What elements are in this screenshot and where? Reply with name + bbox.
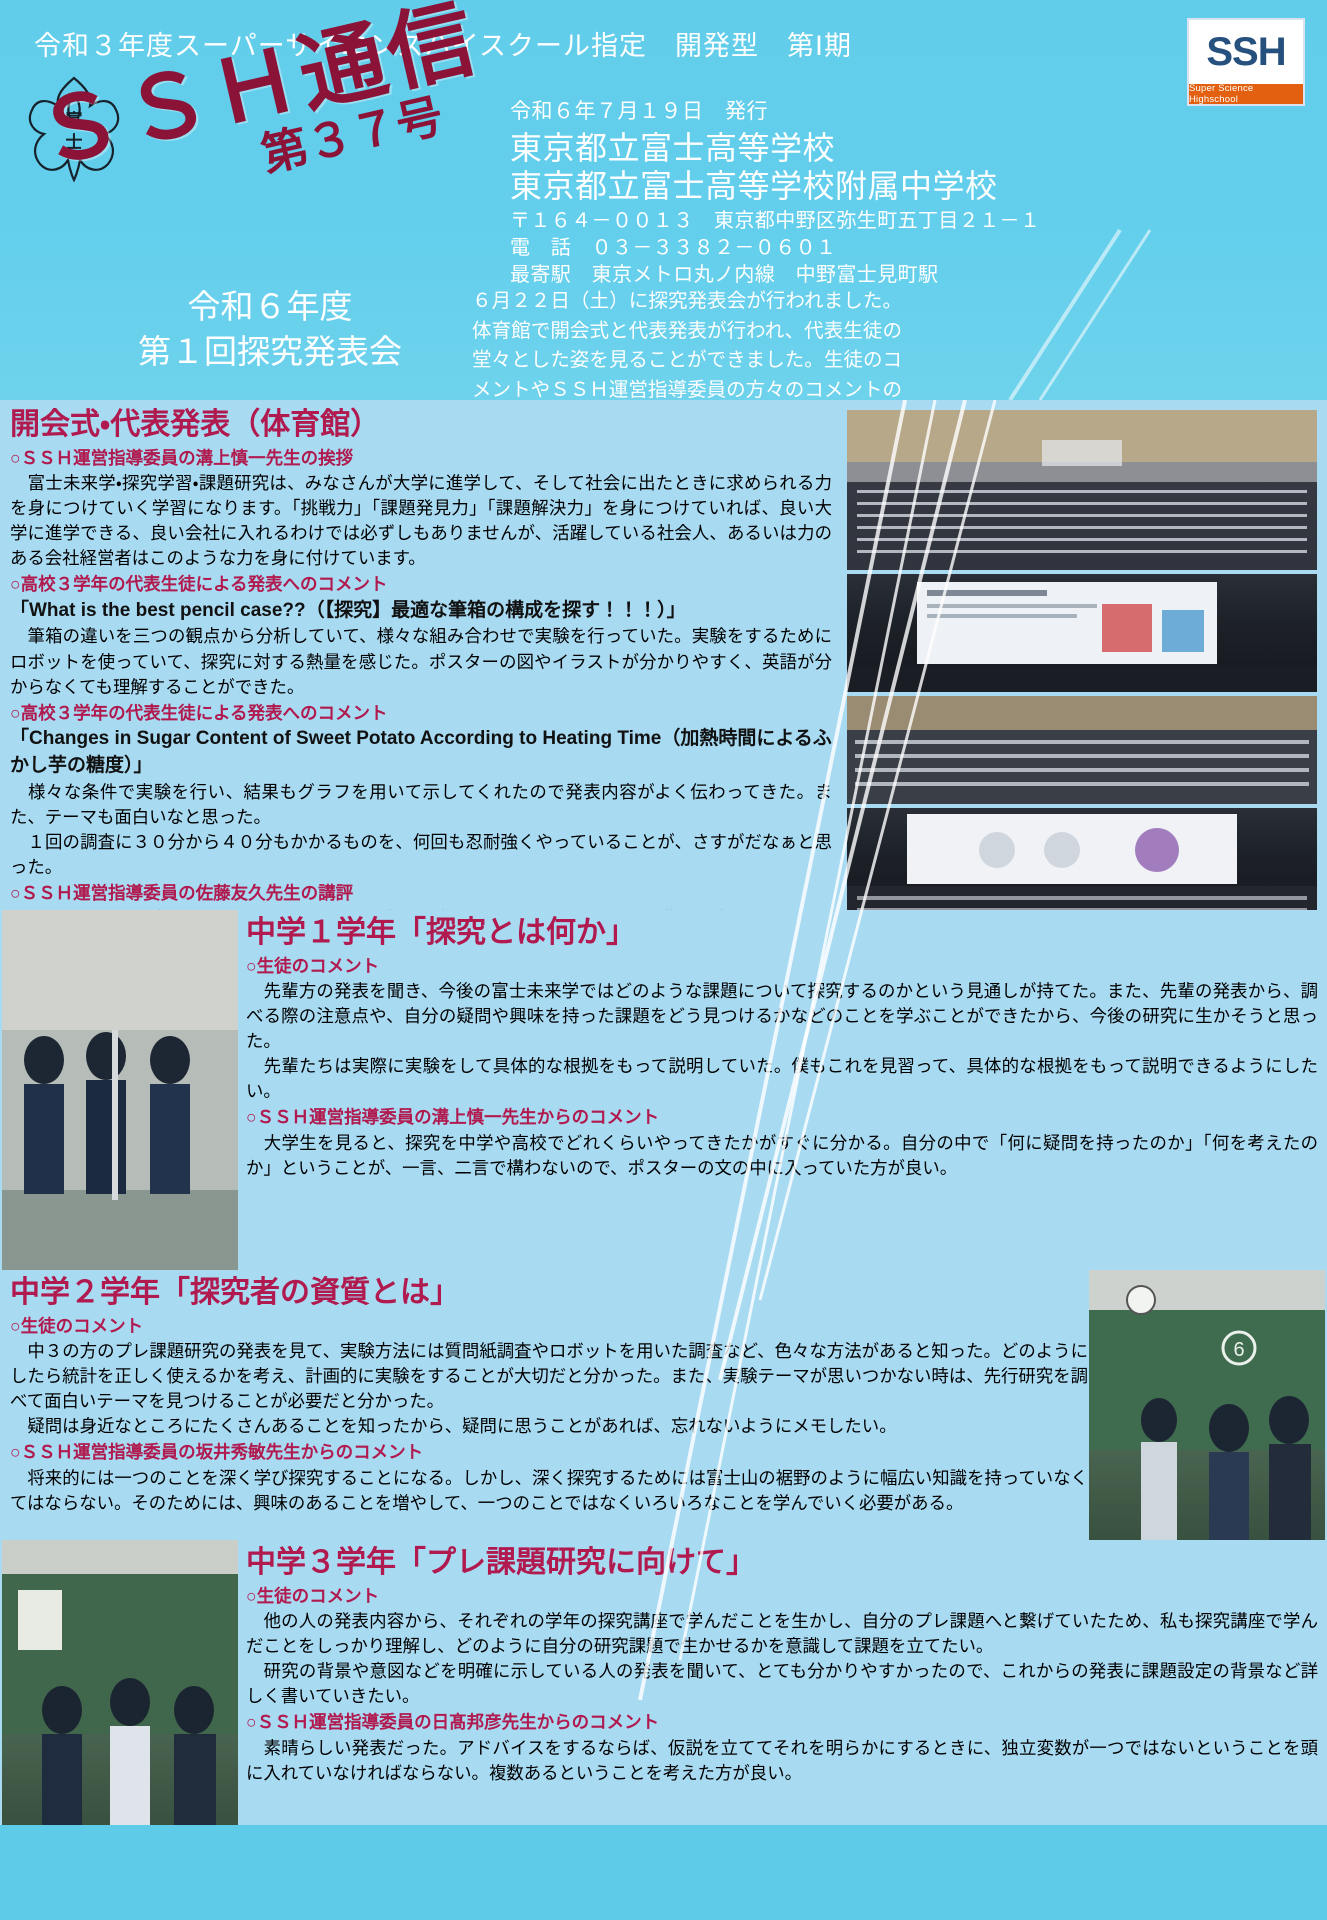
presentation-title: 「What is the best pencil case??（【探究】最適な筆… bbox=[10, 598, 832, 625]
section-3-text-column: 中学２学年「探究者の資質とは」 ○生徒のコメント 中３の方のプレ課題研究の発表を… bbox=[10, 1276, 1088, 1516]
ssh-logo-caption: Super Science Highschool bbox=[1189, 84, 1303, 104]
sub-heading: ○ＳＳＨ運営指導委員の溝上慎一先生の挨拶 bbox=[10, 446, 832, 471]
school-name-junior: 東京都立富士高等学校附属中学校 bbox=[510, 167, 1040, 205]
paragraph: １回の調査に３０分から４０分もかかるものを、何回も忍耐強くやっていることが、さす… bbox=[10, 830, 832, 880]
sub-heading: ○高校３学年の代表生徒による発表へのコメント bbox=[10, 572, 832, 597]
newsletter-header: 令和３年度スーパーサイエンスハイスクール指定 開発型 第Ⅰ期 SSH Super… bbox=[0, 0, 1327, 400]
paragraph: 富士未来学・探究学習・課題研究は、みなさんが大学に進学して、そして社会に出たとき… bbox=[10, 471, 832, 571]
paragraph: 先輩方の発表を聞き、今後の富士未来学ではどのような課題について探究するのかという… bbox=[246, 979, 1318, 1054]
nearest-station: 最寄駅 東京メトロ丸ノ内線 中野富士見町駅 bbox=[510, 262, 1040, 289]
sub-heading: ○ＳＳＨ運営指導委員の日髙邦彦先生からのコメント bbox=[246, 1710, 1318, 1735]
section-4-title: 中学３学年「プレ課題研究に向けて」 bbox=[246, 1546, 1318, 1583]
stage-screen-photo bbox=[847, 808, 1317, 920]
school-address: 〒１６４－００１３ 東京都中野区弥生町五丁目２１－１ bbox=[510, 208, 1040, 235]
audience-seated-photo bbox=[847, 696, 1317, 804]
event-year: 令和６年度 bbox=[100, 285, 440, 330]
sub-heading: ○ＳＳＨ運営指導委員の溝上慎一先生からのコメント bbox=[246, 1105, 1318, 1130]
school-telephone: 電 話 ０３－３３８２－０６０１ bbox=[510, 235, 1040, 262]
section-1-text-column: 開会式・代表発表（体育館） ○ＳＳＨ運営指導委員の溝上慎一先生の挨拶 富士未来学… bbox=[10, 408, 832, 982]
ssh-logo-acronym: SSH bbox=[1189, 20, 1303, 84]
publisher-info: 令和６年７月１９日 発行 東京都立富士高等学校 東京都立富士高等学校附属中学校 … bbox=[510, 95, 1040, 289]
classroom-presentation-photo: 6 bbox=[1089, 1270, 1325, 1540]
svg-text:6: 6 bbox=[1233, 1339, 1244, 1361]
section-opening-ceremony: 開会式・代表発表（体育館） ○ＳＳＨ運営指導委員の溝上慎一先生の挨拶 富士未来学… bbox=[0, 400, 1327, 910]
publish-date: 令和６年７月１９日 発行 bbox=[510, 95, 1040, 125]
paragraph: 大学生を見ると、探究を中学や高校でどれくらいやってきたかがすぐに分かる。自分の中… bbox=[246, 1131, 1318, 1181]
newsletter-page: 令和３年度スーパーサイエンスハイスクール指定 開発型 第Ⅰ期 SSH Super… bbox=[0, 0, 1327, 1920]
paragraph: 筆箱の違いを三つの観点から分析していて、様々な組み合わせで実験を行っていた。実験… bbox=[10, 624, 832, 699]
gym-assembly-photo bbox=[847, 410, 1317, 570]
section-junior-grade-2: 6 中学２学年「探究者の資質とは」 ○生徒のコメント 中３の方のプレ課題研究の発… bbox=[0, 1270, 1327, 1540]
school-name-high: 東京都立富士高等学校 bbox=[510, 129, 1040, 167]
section-4-text-column: 中学３学年「プレ課題研究に向けて」 ○生徒のコメント 他の人の発表内容から、それ… bbox=[246, 1546, 1318, 1786]
section-junior-grade-3: 中学３学年「プレ課題研究に向けて」 ○生徒のコメント 他の人の発表内容から、それ… bbox=[0, 1540, 1327, 1825]
event-name: 第１回探究発表会 bbox=[100, 330, 440, 375]
intro-paragraph: ６月２２日（土）に探究発表会が行われました。体育館で開会式と代表発表が行われ、代… bbox=[472, 287, 902, 400]
presentation-screen-photo bbox=[847, 574, 1317, 692]
paragraph: 素晴らしい発表だった。アドバイスをするならば、仮説を立ててそれを明らかにするとき… bbox=[246, 1736, 1318, 1786]
paragraph: 先輩たちは実際に実験をして具体的な根拠をもって説明していた。僕もこれを見習って、… bbox=[246, 1054, 1318, 1104]
paragraph: 疑問は身近なところにたくさんあることを知ったから、疑問に思うことがあれば、忘れな… bbox=[10, 1414, 1088, 1439]
sub-heading: ○生徒のコメント bbox=[246, 954, 1318, 979]
paragraph: 他の人の発表内容から、それぞれの学年の探究講座で学んだことを生かし、自分のプレ課… bbox=[246, 1609, 1318, 1659]
section-2-text-column: 中学１学年「探究とは何か」 ○生徒のコメント 先輩方の発表を聞き、今後の富士未来… bbox=[246, 916, 1318, 1181]
presentation-title: 「Changes in Sugar Content of Sweet Potat… bbox=[10, 726, 832, 780]
section-1-photo-column bbox=[847, 410, 1317, 924]
sub-heading: ○ＳＳＨ運営指導委員の坂井秀敏先生からのコメント bbox=[10, 1440, 1088, 1465]
ssh-logo: SSH Super Science Highschool bbox=[1187, 18, 1305, 106]
students-discussion-photo bbox=[2, 910, 238, 1270]
paragraph: 研究の背景や意図などを明確に示している人の発表を聞いて、とても分かりやすかったの… bbox=[246, 1659, 1318, 1709]
section-1-title: 開会式・代表発表（体育館） bbox=[10, 408, 832, 445]
paragraph: 将来的には一つのことを深く学び探究することになる。しかし、深く探究するためには富… bbox=[10, 1466, 1088, 1516]
section-3-title: 中学２学年「探究者の資質とは」 bbox=[10, 1276, 1088, 1313]
sub-heading: ○生徒のコメント bbox=[10, 1314, 1088, 1339]
event-title-block: 令和６年度 第１回探究発表会 bbox=[100, 285, 440, 374]
section-2-title: 中学１学年「探究とは何か」 bbox=[246, 916, 1318, 953]
paragraph: 様々な条件で実験を行い、結果もグラフを用いて示してくれたので発表内容がよく伝わっ… bbox=[10, 780, 832, 830]
blackboard-students-photo bbox=[2, 1540, 238, 1825]
sub-heading: ○ＳＳＨ運営指導委員の佐藤友久先生の講評 bbox=[10, 881, 832, 906]
paragraph: 中３の方のプレ課題研究の発表を見て、実験方法には質問紙調査やロボットを用いた調査… bbox=[10, 1339, 1088, 1414]
section-junior-grade-1: 中学１学年「探究とは何か」 ○生徒のコメント 先輩方の発表を聞き、今後の富士未来… bbox=[0, 910, 1327, 1270]
sub-heading: ○高校３学年の代表生徒による発表へのコメント bbox=[10, 701, 832, 726]
sub-heading: ○生徒のコメント bbox=[246, 1584, 1318, 1609]
